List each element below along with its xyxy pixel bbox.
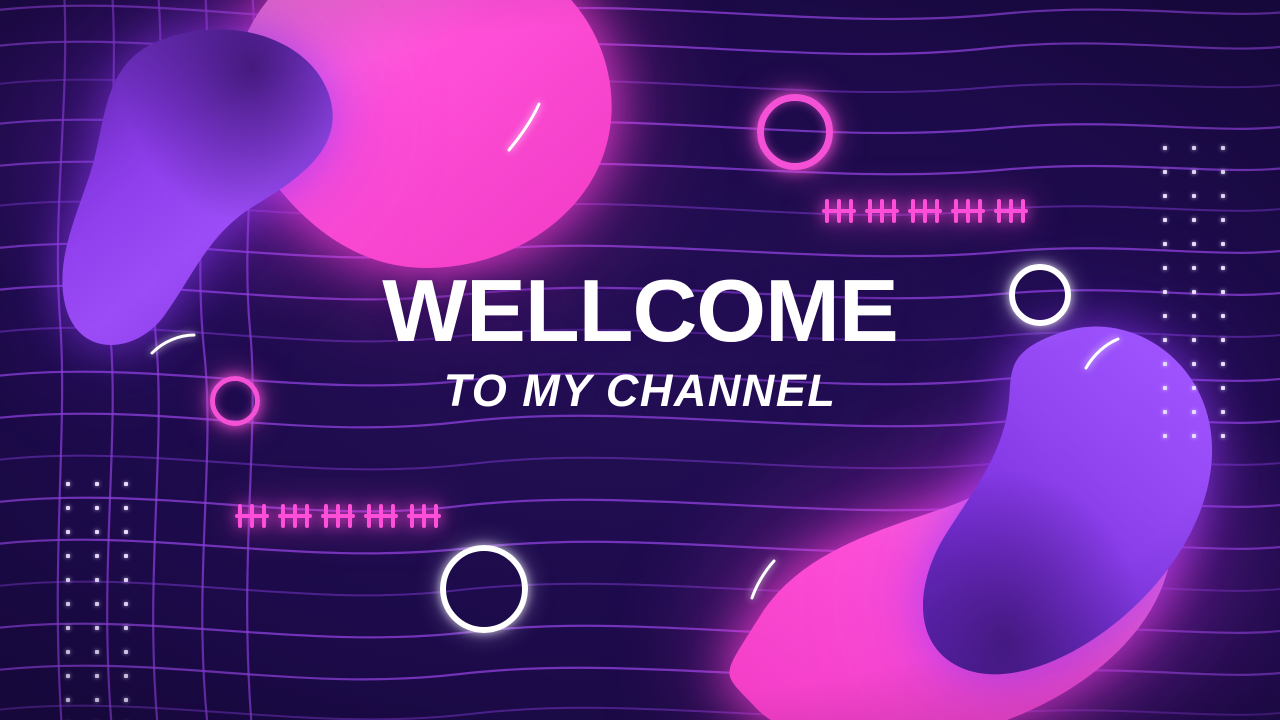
page-subtitle: TO MY CHANNEL [0,368,1280,413]
tally-group [867,199,897,223]
tally-group [953,199,983,223]
page-title: WELLCOME [0,268,1280,354]
headline-block: WELLCOME TO MY CHANNEL [0,268,1280,413]
white-ring-bottom [440,545,528,633]
pink-ring-top-right [757,94,833,170]
tally-marks-bottom [237,504,439,528]
tally-group [910,199,940,223]
tally-group [366,504,396,528]
tally-group [409,504,439,528]
tally-group [323,504,353,528]
tally-group [237,504,267,528]
dot-grid-left [66,482,128,720]
tally-group [280,504,310,528]
banner-canvas: WELLCOME TO MY CHANNEL [0,0,1280,720]
tally-marks-top [824,199,1026,223]
tally-group [824,199,854,223]
tally-group [996,199,1026,223]
